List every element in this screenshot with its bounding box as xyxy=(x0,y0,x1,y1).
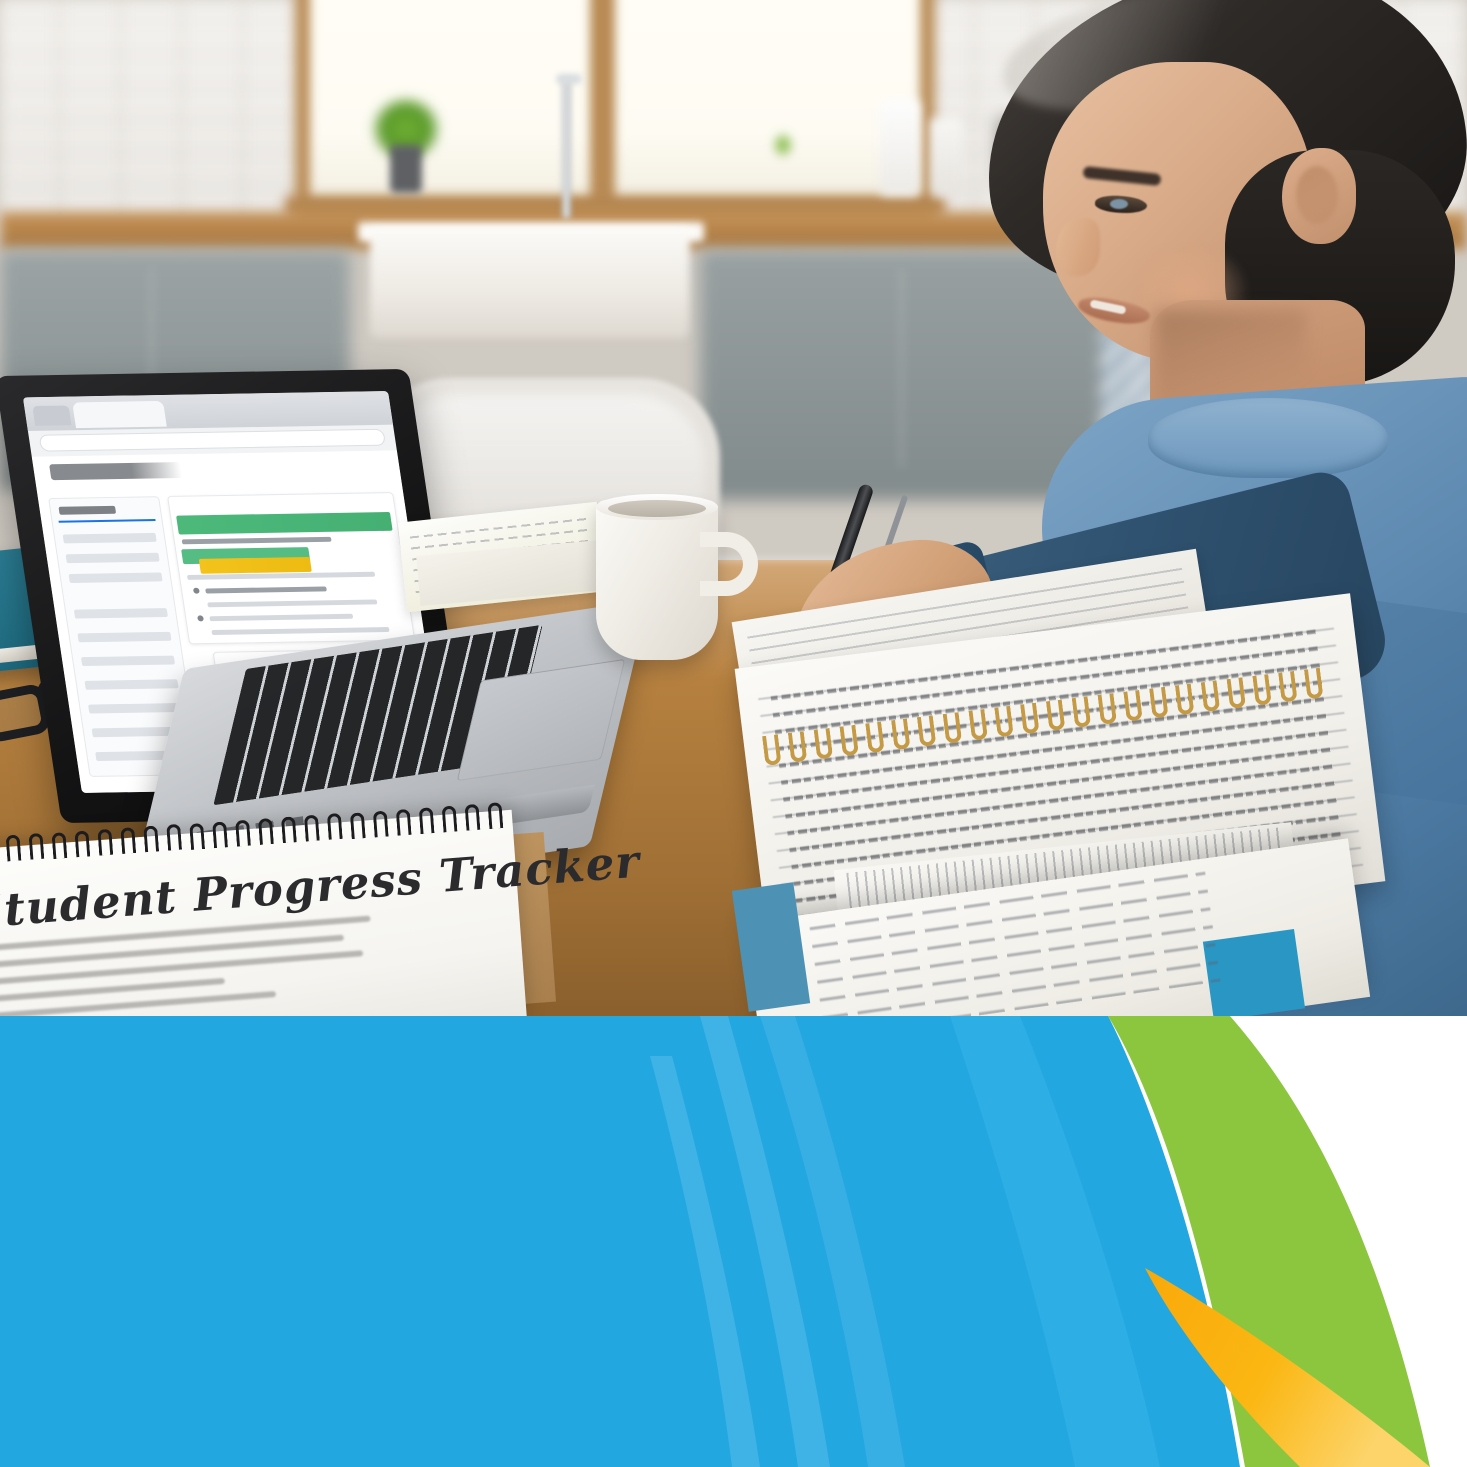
soap-bottle xyxy=(880,100,920,196)
sidebar-item[interactable] xyxy=(66,553,160,564)
woman-nose xyxy=(1056,218,1100,276)
spiral-coil xyxy=(419,807,435,834)
app-list-bullet xyxy=(197,615,204,621)
spiral-coil xyxy=(891,718,911,750)
spiral-coil xyxy=(1046,699,1066,731)
sidebar-item[interactable] xyxy=(77,632,171,643)
sidebar-heading xyxy=(58,506,116,515)
progress-highlight-yellow xyxy=(199,557,312,574)
faucet-head xyxy=(556,74,582,84)
spiral-coil xyxy=(1201,680,1221,712)
sidebar-item[interactable] xyxy=(63,533,157,544)
farmhouse-sink xyxy=(370,228,690,338)
spiral-coil xyxy=(304,815,320,842)
browser-tab-inactive[interactable] xyxy=(32,406,71,426)
progress-highlight-green xyxy=(176,512,393,535)
spiral-coil xyxy=(1175,684,1195,716)
spiral-coil xyxy=(487,803,503,830)
spiral-coil xyxy=(51,832,67,859)
spiral-coil xyxy=(189,823,205,850)
spiral-coil xyxy=(442,806,458,833)
spiral-coil xyxy=(258,818,274,845)
spiral-coil xyxy=(994,706,1014,738)
app-logo xyxy=(49,462,182,480)
spiral-coil xyxy=(281,816,297,843)
spiral-coil xyxy=(6,835,22,862)
soap-bottle-secondary xyxy=(930,118,962,196)
spiral-coil xyxy=(465,804,481,831)
spiral-coil xyxy=(917,715,937,747)
spiral-coil xyxy=(1123,690,1143,722)
spiral-coil xyxy=(1278,671,1298,703)
spiral-coil xyxy=(762,734,782,766)
spiral-coil xyxy=(1072,696,1092,728)
spiral-coil xyxy=(943,712,963,744)
banner-swoosh-graphics xyxy=(0,1016,1467,1467)
sidebar-item[interactable] xyxy=(81,656,175,667)
spiral-coil xyxy=(143,826,159,853)
faucet-neck xyxy=(562,78,571,218)
spiral-coil xyxy=(1227,677,1247,709)
window-pane-right xyxy=(615,0,920,200)
spiral-coil xyxy=(212,821,228,848)
spiral-coil xyxy=(327,813,343,840)
spiral-coil xyxy=(814,728,834,760)
sidebar-item[interactable] xyxy=(74,608,168,619)
spiral-coil xyxy=(968,709,988,741)
app-list-bullet xyxy=(193,588,200,594)
spiral-coil xyxy=(1020,703,1040,735)
window-pane-left xyxy=(310,0,590,200)
spiral-coil xyxy=(350,812,366,839)
plant-pot xyxy=(390,145,422,193)
spiral-coil xyxy=(29,833,45,860)
small-plant xyxy=(770,130,796,160)
spiral-coil xyxy=(839,725,859,757)
spiral-coil xyxy=(97,829,113,856)
spiral-coil xyxy=(74,830,90,857)
blog-cover-poster: Student Progress Tracker xyxy=(0,0,1467,1467)
sidebar-item[interactable] xyxy=(69,572,163,583)
woman-iris xyxy=(1110,199,1128,209)
woman-ear-inner xyxy=(1296,166,1338,224)
brand-banner: SPECIAL ED RESOURCE.COM HOW TO TRACK YOU… xyxy=(0,1016,1467,1467)
hero-photo: Student Progress Tracker xyxy=(0,0,1467,1020)
spiral-coil xyxy=(235,819,251,846)
browser-tab-active[interactable] xyxy=(72,401,167,428)
spiral-coil xyxy=(865,722,885,754)
mug-interior xyxy=(608,500,706,517)
sidebar-item[interactable] xyxy=(88,703,182,714)
spiral-coil xyxy=(1149,687,1169,719)
spiral-coil xyxy=(788,731,808,763)
spiral-coil xyxy=(373,810,389,837)
sidebar-active-indicator xyxy=(59,519,156,523)
sweater-collar xyxy=(1148,398,1388,478)
spiral-coil xyxy=(1252,674,1272,706)
spiral-coil xyxy=(120,827,136,854)
spiral-coil xyxy=(1097,693,1117,725)
spiral-coil xyxy=(396,809,412,836)
cabinet-seam xyxy=(900,268,903,468)
sidebar-item[interactable] xyxy=(84,679,178,690)
spiral-coil xyxy=(166,824,182,851)
browser-address-bar[interactable] xyxy=(39,429,386,452)
